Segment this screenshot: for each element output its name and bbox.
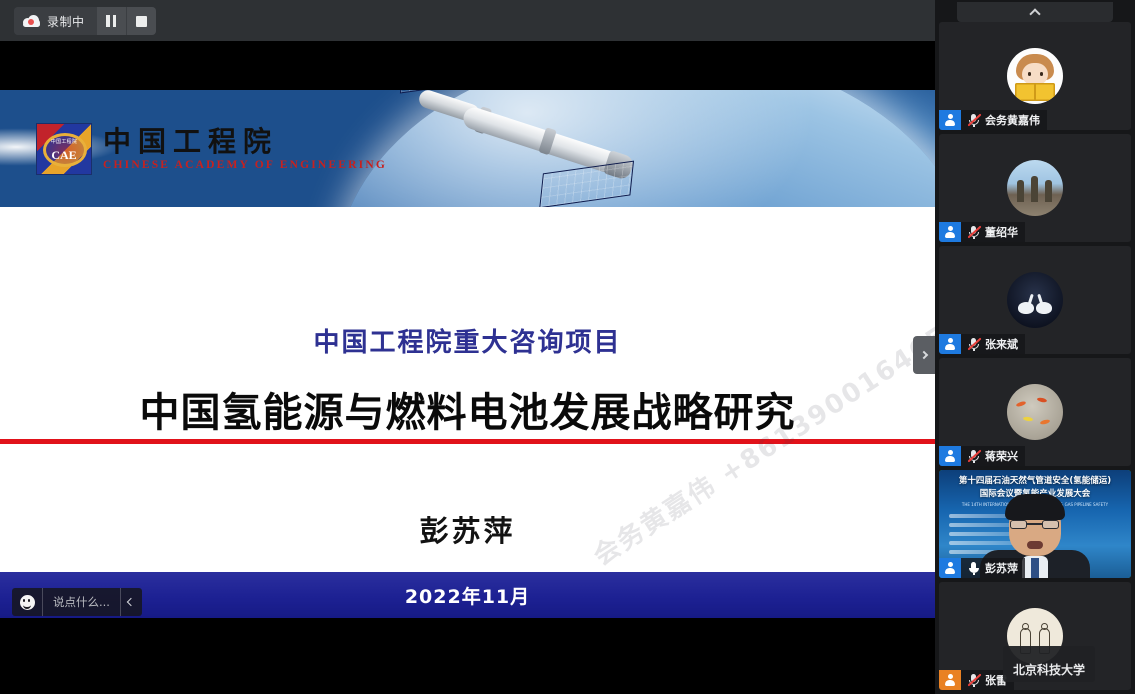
winter-scene-avatar [1007, 160, 1063, 216]
goldfish-avatar [1007, 384, 1063, 440]
slide-date: 2022年11月 [405, 582, 530, 609]
slide-divider [0, 439, 935, 444]
recording-toolbar: 录制中 [0, 0, 935, 41]
participant-name: 会务黄嘉伟 [985, 112, 1040, 128]
slide-subtitle: 中国工程院重大咨询项目 [0, 322, 935, 359]
participant-name-row: 彭苏萍 [939, 558, 1025, 578]
participant-badge-icon [939, 558, 961, 578]
host-badge-icon [939, 670, 961, 690]
cae-emblem-cn: 中国工程院 [37, 138, 91, 145]
cae-name-cn: 中国工程院 [103, 127, 387, 157]
chevron-up-icon [1029, 8, 1040, 19]
video-banner-line1: 第十四届石油天然气管道安全(氢能储运) [944, 476, 1126, 487]
chevron-right-icon [920, 351, 928, 359]
participant-tooltip: 北京科技大学 [1003, 646, 1095, 682]
tooltip-text: 北京科技大学 [1013, 661, 1085, 678]
letterbox-bottom [0, 618, 935, 694]
participant-tile[interactable]: 会务黄嘉伟 [939, 22, 1131, 130]
chat-composer[interactable]: 说点什么... [12, 588, 142, 616]
panel-collapse-button[interactable] [913, 336, 935, 374]
cae-emblem-icon: 中国工程院 CAE [36, 123, 92, 175]
emoji-button[interactable] [12, 595, 42, 610]
participant-name-row: 蒋荣兴 [939, 446, 1025, 466]
participant-name: 张来斌 [985, 336, 1018, 352]
participant-name-row: 张来斌 [939, 334, 1025, 354]
swans-avatar [1007, 272, 1063, 328]
participant-tile[interactable]: 董绍华 [939, 134, 1131, 242]
shared-screen-stage: 录制中 [0, 0, 935, 694]
slide-header-banner: 中国工程院 CAE 中国工程院 CHINESE ACADEMY OF ENGIN… [0, 90, 935, 207]
participant-badge-icon [939, 446, 961, 466]
active-speaker-tile[interactable]: 第十四届石油天然气管道安全(氢能储运) 国际会议暨氢能产业发展大会 THE 14… [939, 470, 1131, 578]
participant-tile[interactable]: 蒋荣兴 [939, 358, 1131, 466]
participant-filmstrip: 会务黄嘉伟 董绍华 张来斌 [935, 0, 1135, 694]
mic-muted-icon [967, 337, 980, 351]
cae-name-en: CHINESE ACADEMY OF ENGINEERING [103, 159, 387, 171]
mic-muted-icon [967, 113, 980, 127]
chat-input[interactable]: 说点什么... [42, 588, 120, 616]
participant-name: 彭苏萍 [985, 560, 1018, 576]
chat-collapse-button[interactable] [120, 588, 142, 616]
participant-name-row: 会务黄嘉伟 [939, 110, 1047, 130]
mic-active-icon [967, 561, 980, 575]
stop-icon [136, 16, 147, 27]
slide-title: 中国氢能源与燃料电池发展战略研究 [0, 380, 935, 438]
anime-reader-avatar [1007, 48, 1063, 104]
mic-muted-icon [967, 449, 980, 463]
participant-tile[interactable]: 张来斌 [939, 246, 1131, 354]
cloud-recording-icon [23, 15, 40, 27]
pause-recording-button[interactable] [96, 7, 126, 35]
slide-speaker-name: 彭苏萍 [0, 508, 935, 550]
participant-badge-icon [939, 222, 961, 242]
smiley-icon [20, 595, 35, 610]
presentation-slide: 中国工程院 CAE 中国工程院 CHINESE ACADEMY OF ENGIN… [0, 90, 935, 618]
recording-indicator: 录制中 [14, 7, 156, 35]
participant-name: 董绍华 [985, 224, 1018, 240]
cae-logo: 中国工程院 CAE 中国工程院 CHINESE ACADEMY OF ENGIN… [36, 123, 387, 175]
cae-emblem-en: CAE [37, 148, 91, 163]
participant-badge-icon [939, 110, 961, 130]
mic-muted-icon [967, 225, 980, 239]
recording-status: 录制中 [14, 7, 96, 35]
mic-muted-icon [967, 673, 980, 687]
pause-icon [106, 15, 116, 27]
chevron-left-icon [127, 598, 135, 606]
recording-label: 录制中 [47, 13, 85, 30]
participant-badge-icon [939, 334, 961, 354]
participant-name-row: 董绍华 [939, 222, 1025, 242]
filmstrip-scroll-up-button[interactable] [957, 2, 1113, 22]
stop-recording-button[interactable] [126, 7, 156, 35]
letterbox-top [0, 41, 935, 90]
participant-name: 蒋荣兴 [985, 448, 1018, 464]
